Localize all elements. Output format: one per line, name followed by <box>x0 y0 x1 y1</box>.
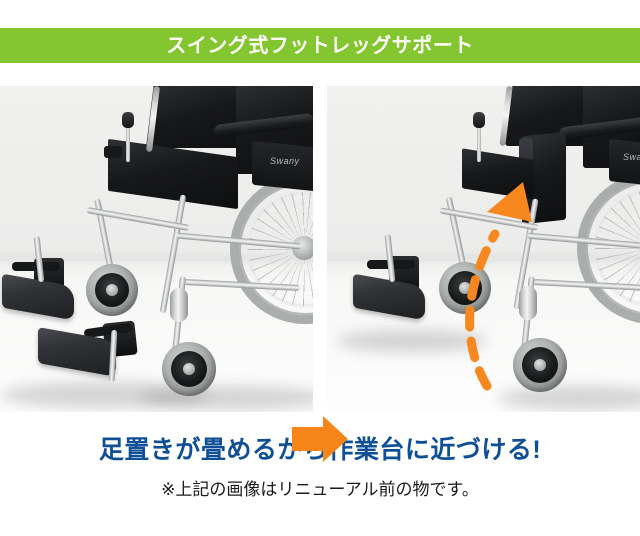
brand-label: Swany <box>623 152 640 162</box>
floor-shadow <box>337 330 487 352</box>
caster-wheel <box>86 264 138 316</box>
caster-housing <box>519 286 537 320</box>
header-banner: スイング式フットレッグサポート <box>0 28 640 63</box>
storage-bag <box>609 139 640 187</box>
brand-label: Swany <box>270 156 300 166</box>
caster-wheel <box>162 342 216 396</box>
photo-footrest-up: Swany <box>327 86 640 412</box>
caster-housing <box>170 288 188 322</box>
photo-comparison-row: Swany <box>0 86 640 412</box>
banner-title: スイング式フットレッグサポート <box>166 36 474 56</box>
lever-knob <box>473 112 485 128</box>
lever-knob <box>122 112 134 128</box>
orange-right-arrow <box>292 416 348 462</box>
caster-wheel <box>513 338 567 392</box>
photo-footrest-down: Swany <box>0 86 313 412</box>
footer-note: ※上記の画像はリニューアル前の物です。 <box>0 480 640 500</box>
release-lever <box>477 122 481 162</box>
legrest-bracket <box>104 146 122 158</box>
release-lever <box>126 122 130 162</box>
storage-bag <box>252 141 313 192</box>
caster-wheel <box>439 262 491 314</box>
